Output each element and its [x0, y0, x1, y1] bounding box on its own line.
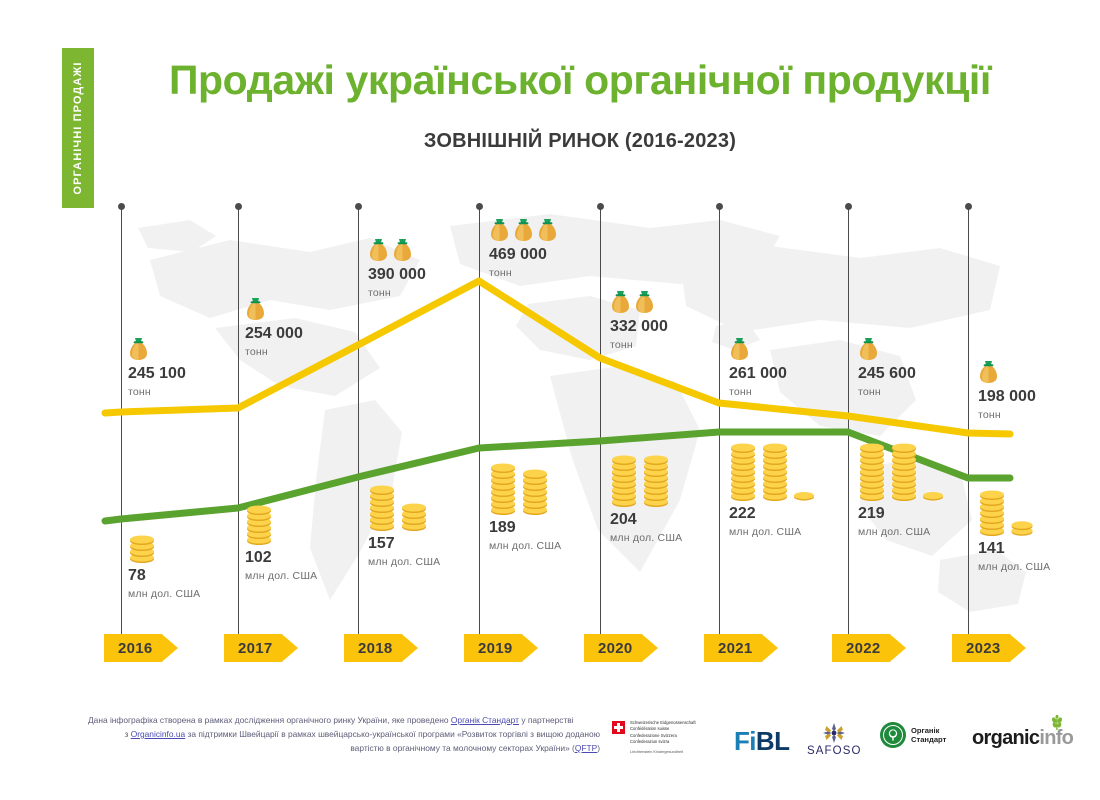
tonnes-value: 198 000 [978, 388, 1036, 406]
footer-credit-text: Дана інфографіка створена в рамках дослі… [88, 714, 600, 756]
sprout-icon [1050, 715, 1064, 731]
usd-point-2018: 157 млн дол. США [368, 477, 440, 568]
tonnes-unit: тонн [978, 409, 1036, 421]
coin-stack-group [368, 477, 440, 531]
tonnes-point-2017: 254 000 тонн [245, 297, 303, 358]
organic-standard-emblem-icon [880, 722, 906, 748]
tonnes-value: 261 000 [729, 365, 787, 383]
money-bag-icon [610, 290, 631, 314]
tonnes-unit: тонн [858, 386, 916, 398]
link-organic-standard[interactable]: Органік Стандарт [451, 715, 519, 725]
money-bag-group [858, 337, 916, 361]
usd-point-2023: 141 млн дол. США [978, 482, 1050, 573]
coin-stack-group [489, 455, 561, 515]
coin-stack-group [610, 447, 682, 507]
money-bag-icon [513, 218, 534, 242]
usd-value: 204 [610, 511, 682, 529]
money-bag-icon [537, 218, 558, 242]
organic-standard-line-2: Стандарт [911, 735, 946, 744]
coin-stack-icon [922, 437, 944, 501]
coin-stack-icon [642, 447, 670, 507]
tonnes-unit: тонн [368, 287, 426, 299]
usd-value: 78 [128, 567, 200, 585]
money-bag-group [729, 337, 787, 361]
tonnes-unit: тонн [610, 339, 668, 351]
coin-stack-icon [128, 527, 156, 563]
year-label: 2017 [238, 640, 273, 657]
coin-stack-icon [729, 437, 757, 501]
safoso-mark-icon [820, 722, 848, 744]
money-bag-icon [978, 360, 999, 384]
usd-point-2016: 78 млн дол. США [128, 527, 200, 600]
logo-organicinfo: organicinfo [972, 727, 1100, 750]
swiss-cross-icon [612, 721, 625, 734]
coin-stack-icon [890, 437, 918, 501]
year-label: 2016 [118, 640, 153, 657]
year-label: 2020 [598, 640, 633, 657]
money-bag-group [978, 360, 1036, 384]
money-bag-group [128, 337, 186, 361]
usd-value: 189 [489, 519, 561, 537]
tonnes-unit: тонн [245, 346, 303, 358]
logo-fibl: FiBL [734, 726, 789, 757]
link-qftp[interactable]: QFTP [575, 743, 597, 753]
coin-stack-group [128, 527, 200, 563]
tonnes-point-2016: 245 100 тонн [128, 337, 186, 398]
money-bag-group [245, 297, 303, 321]
tonnes-point-2019: 469 000 тонн [489, 218, 558, 279]
fibl-part-2: BL [756, 726, 789, 756]
tonnes-unit: тонн [489, 267, 558, 279]
tonnes-point-2020: 332 000 тонн [610, 290, 668, 351]
footer-text-d: за підтримки Швейцарії в рамках швейцарс… [185, 729, 600, 739]
logo-safoso: SAFOSO [807, 722, 862, 757]
coin-stack-group [245, 497, 317, 545]
logo-strip: Schweizerische Eidgenossenschaft Confédé… [612, 708, 1082, 770]
footer: Дана інфографіка створена в рамках дослі… [0, 700, 1100, 800]
safoso-wordmark: SAFOSO [807, 745, 862, 757]
logo-organic-standard: Органік Стандарт [880, 722, 946, 748]
coin-stack-icon [610, 447, 638, 507]
coin-stack-group [978, 482, 1050, 536]
coin-stack-icon [521, 455, 549, 515]
tonnes-value: 390 000 [368, 266, 426, 284]
footer-text-f: ) [597, 743, 600, 753]
coin-stack-group [858, 437, 944, 501]
usd-unit: млн дол. США [489, 540, 561, 552]
money-bag-icon [858, 337, 879, 361]
tree-icon [886, 728, 900, 742]
usd-unit: млн дол. США [978, 561, 1050, 573]
chart-area: 245 100 тонн 254 000 тонн 390 000 тонн [0, 0, 1100, 700]
usd-value: 141 [978, 540, 1050, 558]
tonnes-point-2021: 261 000 тонн [729, 337, 787, 398]
link-organicinfo[interactable]: Organicinfo.ua [131, 729, 185, 739]
footer-line-2: з Organicinfo.ua за підтримки Швейцарії … [88, 728, 600, 742]
usd-unit: млн дол. США [858, 526, 944, 538]
money-bag-icon [368, 238, 389, 262]
usd-unit: млн дол. США [729, 526, 815, 538]
organicinfo-part-1: organic [972, 727, 1039, 749]
swiss-subline: Liechtenstein Kindergesundheit [630, 750, 696, 754]
year-label: 2018 [358, 640, 393, 657]
footer-text-e: вартістю в органічному та молочному сект… [350, 743, 575, 753]
usd-value: 219 [858, 505, 944, 523]
footer-line-3: вартістю в органічному та молочному сект… [88, 742, 600, 756]
fibl-part-1: Fi [734, 726, 756, 756]
tonnes-value: 254 000 [245, 325, 303, 343]
tonnes-unit: тонн [729, 386, 787, 398]
coin-stack-icon [245, 497, 273, 545]
coin-stack-icon [1010, 482, 1034, 536]
money-bag-icon [128, 337, 149, 361]
money-bag-icon [634, 290, 655, 314]
money-bag-group [368, 238, 426, 262]
money-bag-icon [392, 238, 413, 262]
usd-point-2019: 189 млн дол. США [489, 455, 561, 552]
usd-point-2021: 222 млн дол. США [729, 437, 815, 538]
coin-stack-icon [368, 477, 396, 531]
money-bag-icon [245, 297, 266, 321]
tonnes-value: 245 600 [858, 365, 916, 383]
usd-point-2020: 204 млн дол. США [610, 447, 682, 544]
usd-unit: млн дол. США [610, 532, 682, 544]
usd-value: 222 [729, 505, 815, 523]
coin-stack-icon [761, 437, 789, 501]
tonnes-value: 469 000 [489, 246, 558, 264]
usd-unit: млн дол. США [128, 588, 200, 600]
year-label: 2021 [718, 640, 753, 657]
coin-stack-icon [978, 482, 1006, 536]
footer-line-1: Дана інфографіка створена в рамках дослі… [88, 714, 600, 728]
infographic-page: ОРГАНІЧНІ ПРОДАЖІ Продажі української ор… [0, 0, 1100, 800]
usd-value: 102 [245, 549, 317, 567]
organic-standard-wordmark: Органік Стандарт [911, 726, 946, 745]
year-label: 2023 [966, 640, 1001, 657]
usd-unit: млн дол. США [368, 556, 440, 568]
money-bag-icon [489, 218, 510, 242]
tonnes-point-2022: 245 600 тонн [858, 337, 916, 398]
coin-stack-icon [400, 477, 428, 531]
coin-stack-icon [489, 455, 517, 515]
year-label: 2019 [478, 640, 513, 657]
tonnes-unit: тонн [128, 386, 186, 398]
coin-stack-icon [793, 437, 815, 501]
coin-stack-icon [858, 437, 886, 501]
usd-point-2017: 102 млн дол. США [245, 497, 317, 582]
usd-value: 157 [368, 535, 440, 553]
money-bag-icon [729, 337, 750, 361]
footer-text-b: у партнерстві [519, 715, 574, 725]
tonnes-point-2018: 390 000 тонн [368, 238, 426, 299]
usd-unit: млн дол. США [245, 570, 317, 582]
tonnes-value: 245 100 [128, 365, 186, 383]
year-label: 2022 [846, 640, 881, 657]
swiss-text-block: Schweizerische Eidgenossenschaft Confédé… [630, 720, 696, 754]
money-bag-group [489, 218, 558, 242]
organic-standard-line-1: Органік [911, 726, 946, 735]
tonnes-point-2023: 198 000 тонн [978, 360, 1036, 421]
usd-point-2022: 219 млн дол. США [858, 437, 944, 538]
tonnes-value: 332 000 [610, 318, 668, 336]
logo-swiss-confederation: Schweizerische Eidgenossenschaft Confédé… [612, 720, 696, 754]
coin-stack-group [729, 437, 815, 501]
footer-text-a: Дана інфографіка створена в рамках дослі… [88, 715, 451, 725]
swiss-line-4: Confederaziun svizra [630, 739, 696, 745]
money-bag-group [610, 290, 668, 314]
